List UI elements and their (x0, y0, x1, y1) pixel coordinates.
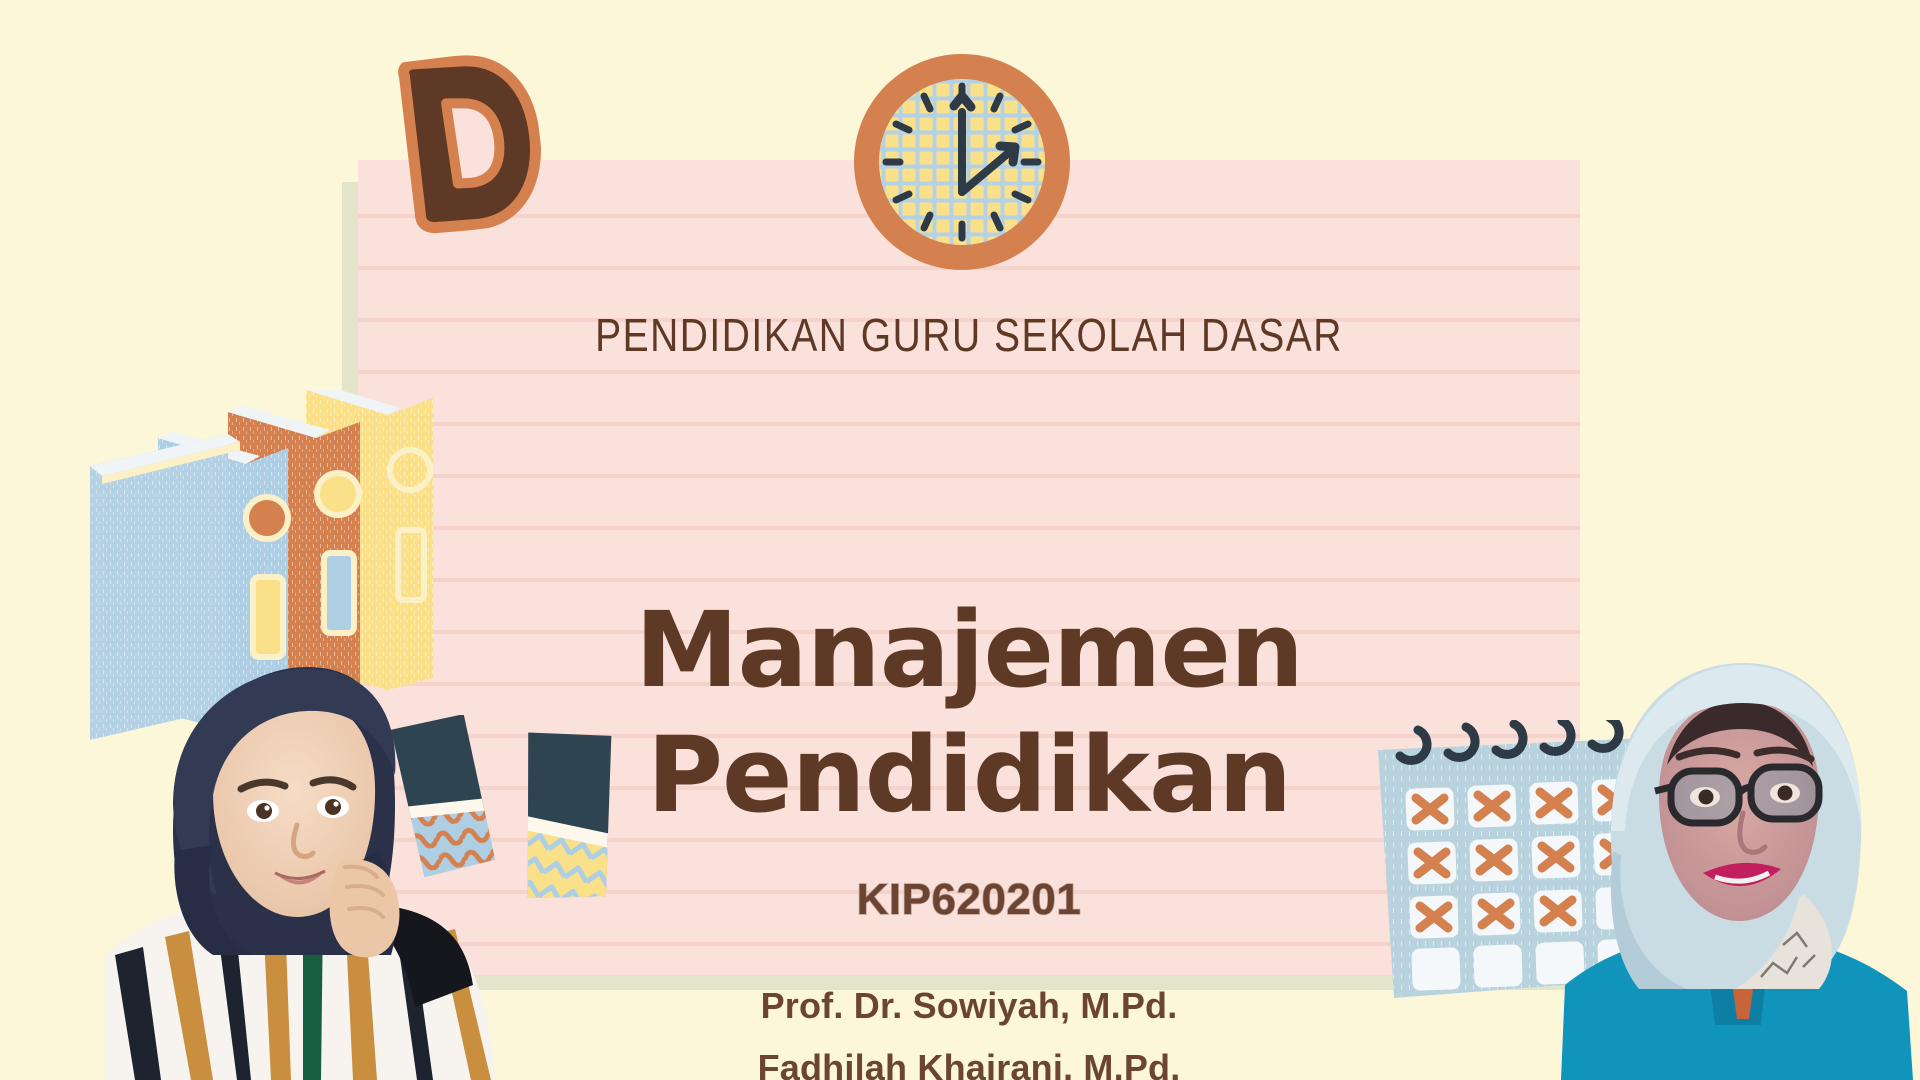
course-code: KIP620201 (358, 875, 1580, 925)
card-rule (358, 474, 1580, 478)
page-title-line2: Pendidikan (358, 720, 1580, 830)
author-name-2: Fadhilah Khairani, M.Pd. (358, 1047, 1580, 1080)
card-rule (358, 526, 1580, 530)
program-name: PENDIDIKAN GURU SEKOLAH DASAR (358, 311, 1580, 363)
letter-d-badge (385, 47, 550, 238)
page-title-line1: Manajemen (358, 595, 1580, 705)
clock-icon (850, 48, 1075, 276)
photo-fadhilah-khairani (95, 655, 525, 1080)
slide-canvas: PENDIDIKAN GURU SEKOLAH DASAR Manajemen … (0, 0, 1920, 1080)
card-rule (358, 422, 1580, 426)
card-rule (358, 578, 1580, 582)
card-rule (358, 370, 1580, 374)
author-name-1: Prof. Dr. Sowiyah, M.Pd. (358, 985, 1580, 1027)
photo-sowiyah (1555, 645, 1920, 1080)
